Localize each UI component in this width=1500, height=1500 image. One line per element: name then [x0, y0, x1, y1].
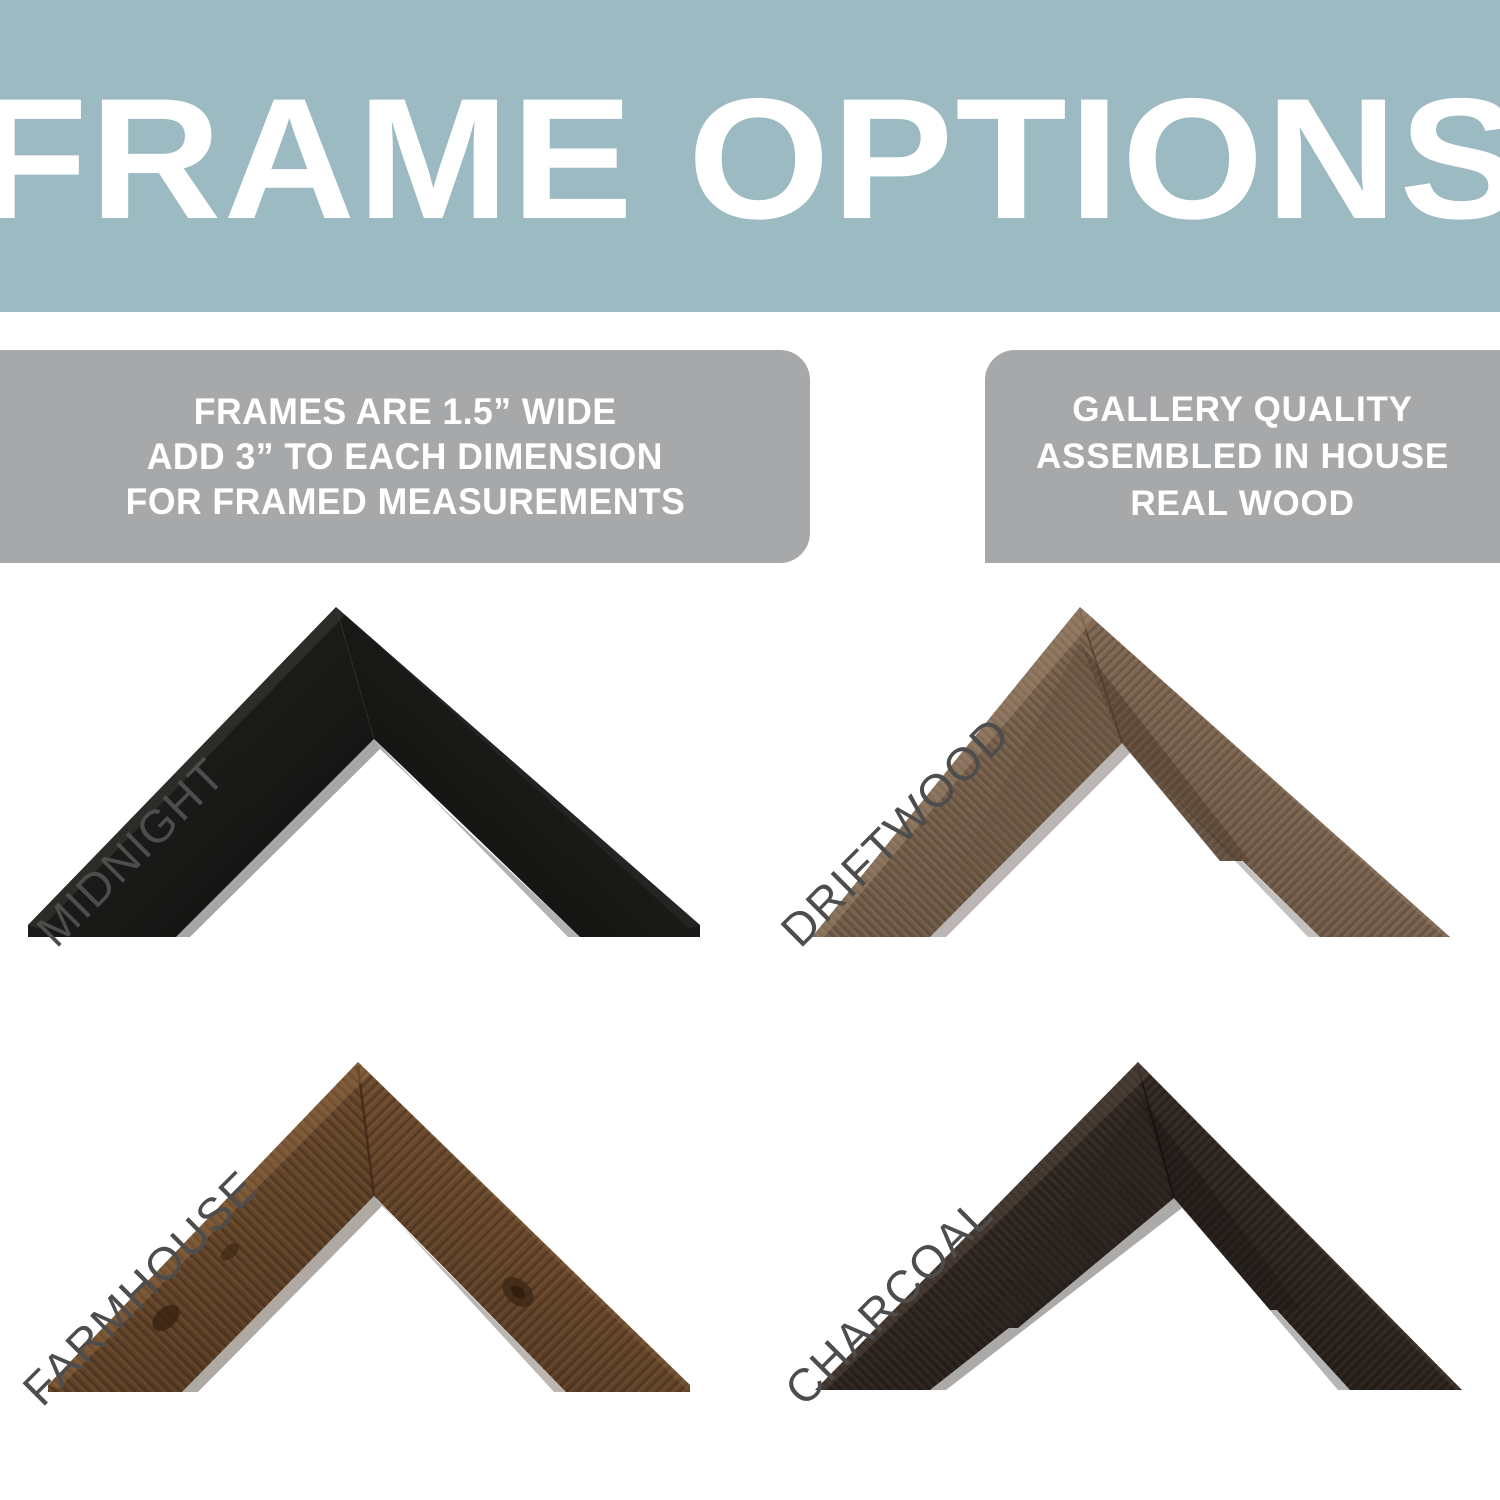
info-line: GALLERY QUALITY: [1072, 386, 1413, 433]
page-title: FRAME OPTIONS: [0, 67, 1500, 245]
frame-sample-charcoal[interactable]: CHARCOAL: [750, 1040, 1500, 1450]
info-line: FRAMES ARE 1.5” WIDE: [194, 389, 617, 434]
frame-sample-grid: MIDNIGHT: [0, 585, 1500, 1500]
frame-corner-charcoal-icon: [750, 1040, 1500, 1450]
info-line: ASSEMBLED IN HOUSE: [1036, 433, 1449, 480]
frame-corner-midnight-icon: [0, 585, 750, 995]
frame-sample-farmhouse[interactable]: FARMHOUSE: [0, 1040, 750, 1450]
header-banner: FRAME OPTIONS: [0, 0, 1500, 312]
info-line: ADD 3” TO EACH DIMENSION: [147, 434, 663, 479]
frame-options-page: FRAME OPTIONS FRAMES ARE 1.5” WIDE ADD 3…: [0, 0, 1500, 1500]
info-box-quality: GALLERY QUALITY ASSEMBLED IN HOUSE REAL …: [985, 350, 1500, 563]
frame-sample-driftwood[interactable]: DRIFTWOOD: [750, 585, 1500, 995]
frame-corner-farmhouse-icon: [0, 1040, 750, 1450]
info-line: FOR FRAMED MEASUREMENTS: [125, 479, 685, 524]
frame-corner-driftwood-icon: [750, 585, 1500, 995]
frame-sample-midnight[interactable]: MIDNIGHT: [0, 585, 750, 995]
info-box-measurements: FRAMES ARE 1.5” WIDE ADD 3” TO EACH DIME…: [0, 350, 810, 563]
info-line: REAL WOOD: [1130, 480, 1354, 527]
